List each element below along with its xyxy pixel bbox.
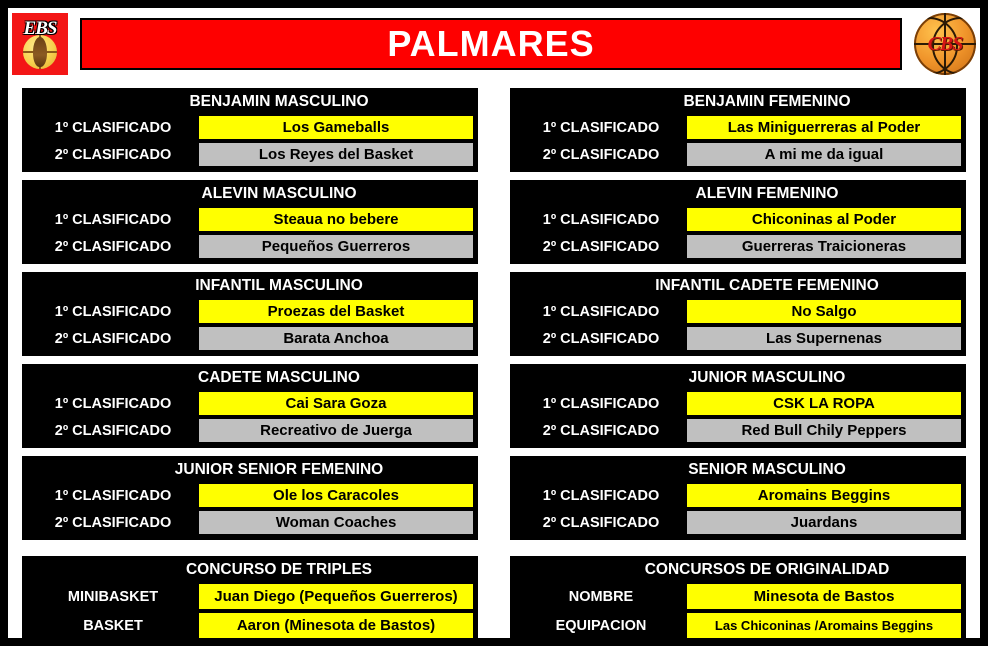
category-title: BENJAMIN FEMENINO bbox=[515, 91, 961, 113]
category-block: BENJAMIN MASCULINO1º CLASIFICADOLos Game… bbox=[22, 88, 478, 172]
ranking-value: Los Gameballs bbox=[199, 116, 473, 139]
palmares-poster: EBS PALMARES CBS BENJAMIN MASCULINO1º CL… bbox=[0, 0, 988, 646]
ranking-label: 1º CLASIFICADO bbox=[515, 488, 687, 504]
left-column: BENJAMIN MASCULINO1º CLASIFICADOLos Game… bbox=[22, 88, 478, 548]
page-title: PALMARES bbox=[387, 26, 594, 62]
ranking-label: 1º CLASIFICADO bbox=[27, 120, 199, 136]
ranking-label: 2º CLASIFICADO bbox=[27, 147, 199, 163]
ranking-label: 2º CLASIFICADO bbox=[515, 423, 687, 439]
category-title: INFANTIL MASCULINO bbox=[27, 275, 473, 297]
cbs-logo: CBS bbox=[914, 13, 976, 75]
ranking-value: Chiconinas al Poder bbox=[687, 208, 961, 231]
ranking-label: 2º CLASIFICADO bbox=[515, 239, 687, 255]
ranking-row: 2º CLASIFICADOLos Reyes del Basket bbox=[27, 142, 473, 167]
ranking-value: Las Supernenas bbox=[687, 327, 961, 350]
category-block: ALEVIN FEMENINO1º CLASIFICADOChiconinas … bbox=[510, 180, 966, 264]
ranking-row: 2º CLASIFICADOA mi me da igual bbox=[515, 142, 961, 167]
bee-icon bbox=[33, 37, 47, 67]
ranking-label: BASKET bbox=[27, 618, 199, 634]
ranking-value: Barata Anchoa bbox=[199, 327, 473, 350]
cbs-logo-text: CBS bbox=[914, 33, 976, 56]
ranking-row: 1º CLASIFICADOOle los Caracoles bbox=[27, 483, 473, 508]
category-title: BENJAMIN MASCULINO bbox=[27, 91, 473, 113]
ranking-label: 1º CLASIFICADO bbox=[515, 120, 687, 136]
ranking-value: Aaron (Minesota de Bastos) bbox=[199, 613, 473, 638]
ranking-value: No Salgo bbox=[687, 300, 961, 323]
ebs-logo: EBS bbox=[12, 13, 68, 75]
ranking-row: 1º CLASIFICADOCSK LA ROPA bbox=[515, 391, 961, 416]
ranking-value: Ole los Caracoles bbox=[199, 484, 473, 507]
ranking-row: 1º CLASIFICADONo Salgo bbox=[515, 299, 961, 324]
category-title: JUNIOR SENIOR FEMENINO bbox=[27, 459, 473, 481]
category-block: ALEVIN MASCULINO1º CLASIFICADOSteaua no … bbox=[22, 180, 478, 264]
ranking-label: 2º CLASIFICADO bbox=[515, 147, 687, 163]
category-columns: BENJAMIN MASCULINO1º CLASIFICADOLos Game… bbox=[8, 88, 980, 548]
ranking-label: 1º CLASIFICADO bbox=[27, 212, 199, 228]
ranking-row: 1º CLASIFICADOChiconinas al Poder bbox=[515, 207, 961, 232]
ranking-value: Guerreras Traicioneras bbox=[687, 235, 961, 258]
ranking-label: 1º CLASIFICADO bbox=[515, 212, 687, 228]
category-block: CONCURSO DE TRIPLESMINIBASKETJuan Diego … bbox=[22, 556, 478, 644]
category-block: CONCURSOS DE ORIGINALIDADNOMBREMinesota … bbox=[510, 556, 966, 644]
ranking-row: 2º CLASIFICADOPequeños Guerreros bbox=[27, 234, 473, 259]
ranking-value: Red Bull Chily Peppers bbox=[687, 419, 961, 442]
category-block: CADETE MASCULINO1º CLASIFICADOCai Sara G… bbox=[22, 364, 478, 448]
ranking-label: 1º CLASIFICADO bbox=[27, 304, 199, 320]
ranking-row: 2º CLASIFICADORecreativo de Juerga bbox=[27, 418, 473, 443]
ranking-value: Juardans bbox=[687, 511, 961, 534]
right-column: BENJAMIN FEMENINO1º CLASIFICADOLas Minig… bbox=[510, 88, 966, 548]
category-title: ALEVIN FEMENINO bbox=[515, 183, 961, 205]
category-block: JUNIOR MASCULINO1º CLASIFICADOCSK LA ROP… bbox=[510, 364, 966, 448]
ranking-value: Recreativo de Juerga bbox=[199, 419, 473, 442]
ranking-label: 2º CLASIFICADO bbox=[27, 423, 199, 439]
ranking-value: A mi me da igual bbox=[687, 143, 961, 166]
category-block: JUNIOR SENIOR FEMENINO1º CLASIFICADOOle … bbox=[22, 456, 478, 540]
ranking-row: 1º CLASIFICADOLos Gameballs bbox=[27, 115, 473, 140]
ranking-row: 2º CLASIFICADOJuardans bbox=[515, 510, 961, 535]
ranking-value: CSK LA ROPA bbox=[687, 392, 961, 415]
ranking-value: Minesota de Bastos bbox=[687, 584, 961, 609]
ranking-value: Las Chiconinas /Aromains Beggins bbox=[687, 613, 961, 638]
category-title: INFANTIL CADETE FEMENINO bbox=[515, 275, 961, 297]
category-title: CONCURSO DE TRIPLES bbox=[27, 559, 473, 581]
category-title: CONCURSOS DE ORIGINALIDAD bbox=[515, 559, 961, 581]
ranking-value: Cai Sara Goza bbox=[199, 392, 473, 415]
ranking-row: NOMBREMinesota de Bastos bbox=[515, 583, 961, 610]
ranking-label: EQUIPACION bbox=[515, 618, 687, 634]
ranking-label: 2º CLASIFICADO bbox=[515, 515, 687, 531]
ranking-label: 2º CLASIFICADO bbox=[515, 331, 687, 347]
ranking-row: 1º CLASIFICADOAromains Beggins bbox=[515, 483, 961, 508]
category-block: INFANTIL MASCULINO1º CLASIFICADOProezas … bbox=[22, 272, 478, 356]
ranking-label: 1º CLASIFICADO bbox=[27, 396, 199, 412]
ranking-label: 2º CLASIFICADO bbox=[27, 331, 199, 347]
category-title: ALEVIN MASCULINO bbox=[27, 183, 473, 205]
ranking-row: 2º CLASIFICADOBarata Anchoa bbox=[27, 326, 473, 351]
ranking-value: Los Reyes del Basket bbox=[199, 143, 473, 166]
ranking-value: Las Miniguerreras al Poder bbox=[687, 116, 961, 139]
ranking-value: Woman Coaches bbox=[199, 511, 473, 534]
category-title: SENIOR MASCULINO bbox=[515, 459, 961, 481]
ranking-label: 1º CLASIFICADO bbox=[515, 304, 687, 320]
ranking-row: 2º CLASIFICADORed Bull Chily Peppers bbox=[515, 418, 961, 443]
category-block: SENIOR MASCULINO1º CLASIFICADOAromains B… bbox=[510, 456, 966, 540]
contests-section: CONCURSO DE TRIPLESMINIBASKETJuan Diego … bbox=[8, 556, 980, 644]
ranking-value: Proezas del Basket bbox=[199, 300, 473, 323]
ranking-value: Aromains Beggins bbox=[687, 484, 961, 507]
ranking-label: 2º CLASIFICADO bbox=[27, 515, 199, 531]
ebs-logo-text: EBS bbox=[12, 18, 68, 40]
ranking-row: EQUIPACIONLas Chiconinas /Aromains Beggi… bbox=[515, 612, 961, 639]
title-banner: PALMARES bbox=[80, 18, 902, 70]
ranking-label: 1º CLASIFICADO bbox=[27, 488, 199, 504]
ranking-value: Pequeños Guerreros bbox=[199, 235, 473, 258]
ranking-row: 2º CLASIFICADOLas Supernenas bbox=[515, 326, 961, 351]
category-title: JUNIOR MASCULINO bbox=[515, 367, 961, 389]
poster-header: EBS PALMARES CBS bbox=[8, 8, 980, 80]
triples-contest-column: CONCURSO DE TRIPLESMINIBASKETJuan Diego … bbox=[22, 556, 478, 644]
category-title: CADETE MASCULINO bbox=[27, 367, 473, 389]
originality-contest-column: CONCURSOS DE ORIGINALIDADNOMBREMinesota … bbox=[510, 556, 966, 644]
ranking-label: MINIBASKET bbox=[27, 589, 199, 605]
ranking-value: Juan Diego (Pequeños Guerreros) bbox=[199, 584, 473, 609]
ranking-value: Steaua no bebere bbox=[199, 208, 473, 231]
ranking-row: MINIBASKETJuan Diego (Pequeños Guerreros… bbox=[27, 583, 473, 610]
ranking-row: 1º CLASIFICADOSteaua no bebere bbox=[27, 207, 473, 232]
ranking-row: BASKETAaron (Minesota de Bastos) bbox=[27, 612, 473, 639]
ranking-row: 2º CLASIFICADOGuerreras Traicioneras bbox=[515, 234, 961, 259]
category-block: INFANTIL CADETE FEMENINO1º CLASIFICADONo… bbox=[510, 272, 966, 356]
ranking-row: 1º CLASIFICADOProezas del Basket bbox=[27, 299, 473, 324]
ranking-label: NOMBRE bbox=[515, 589, 687, 605]
ranking-label: 1º CLASIFICADO bbox=[515, 396, 687, 412]
category-block: BENJAMIN FEMENINO1º CLASIFICADOLas Minig… bbox=[510, 88, 966, 172]
ranking-row: 1º CLASIFICADOLas Miniguerreras al Poder bbox=[515, 115, 961, 140]
ranking-row: 2º CLASIFICADOWoman Coaches bbox=[27, 510, 473, 535]
ranking-label: 2º CLASIFICADO bbox=[27, 239, 199, 255]
ranking-row: 1º CLASIFICADOCai Sara Goza bbox=[27, 391, 473, 416]
